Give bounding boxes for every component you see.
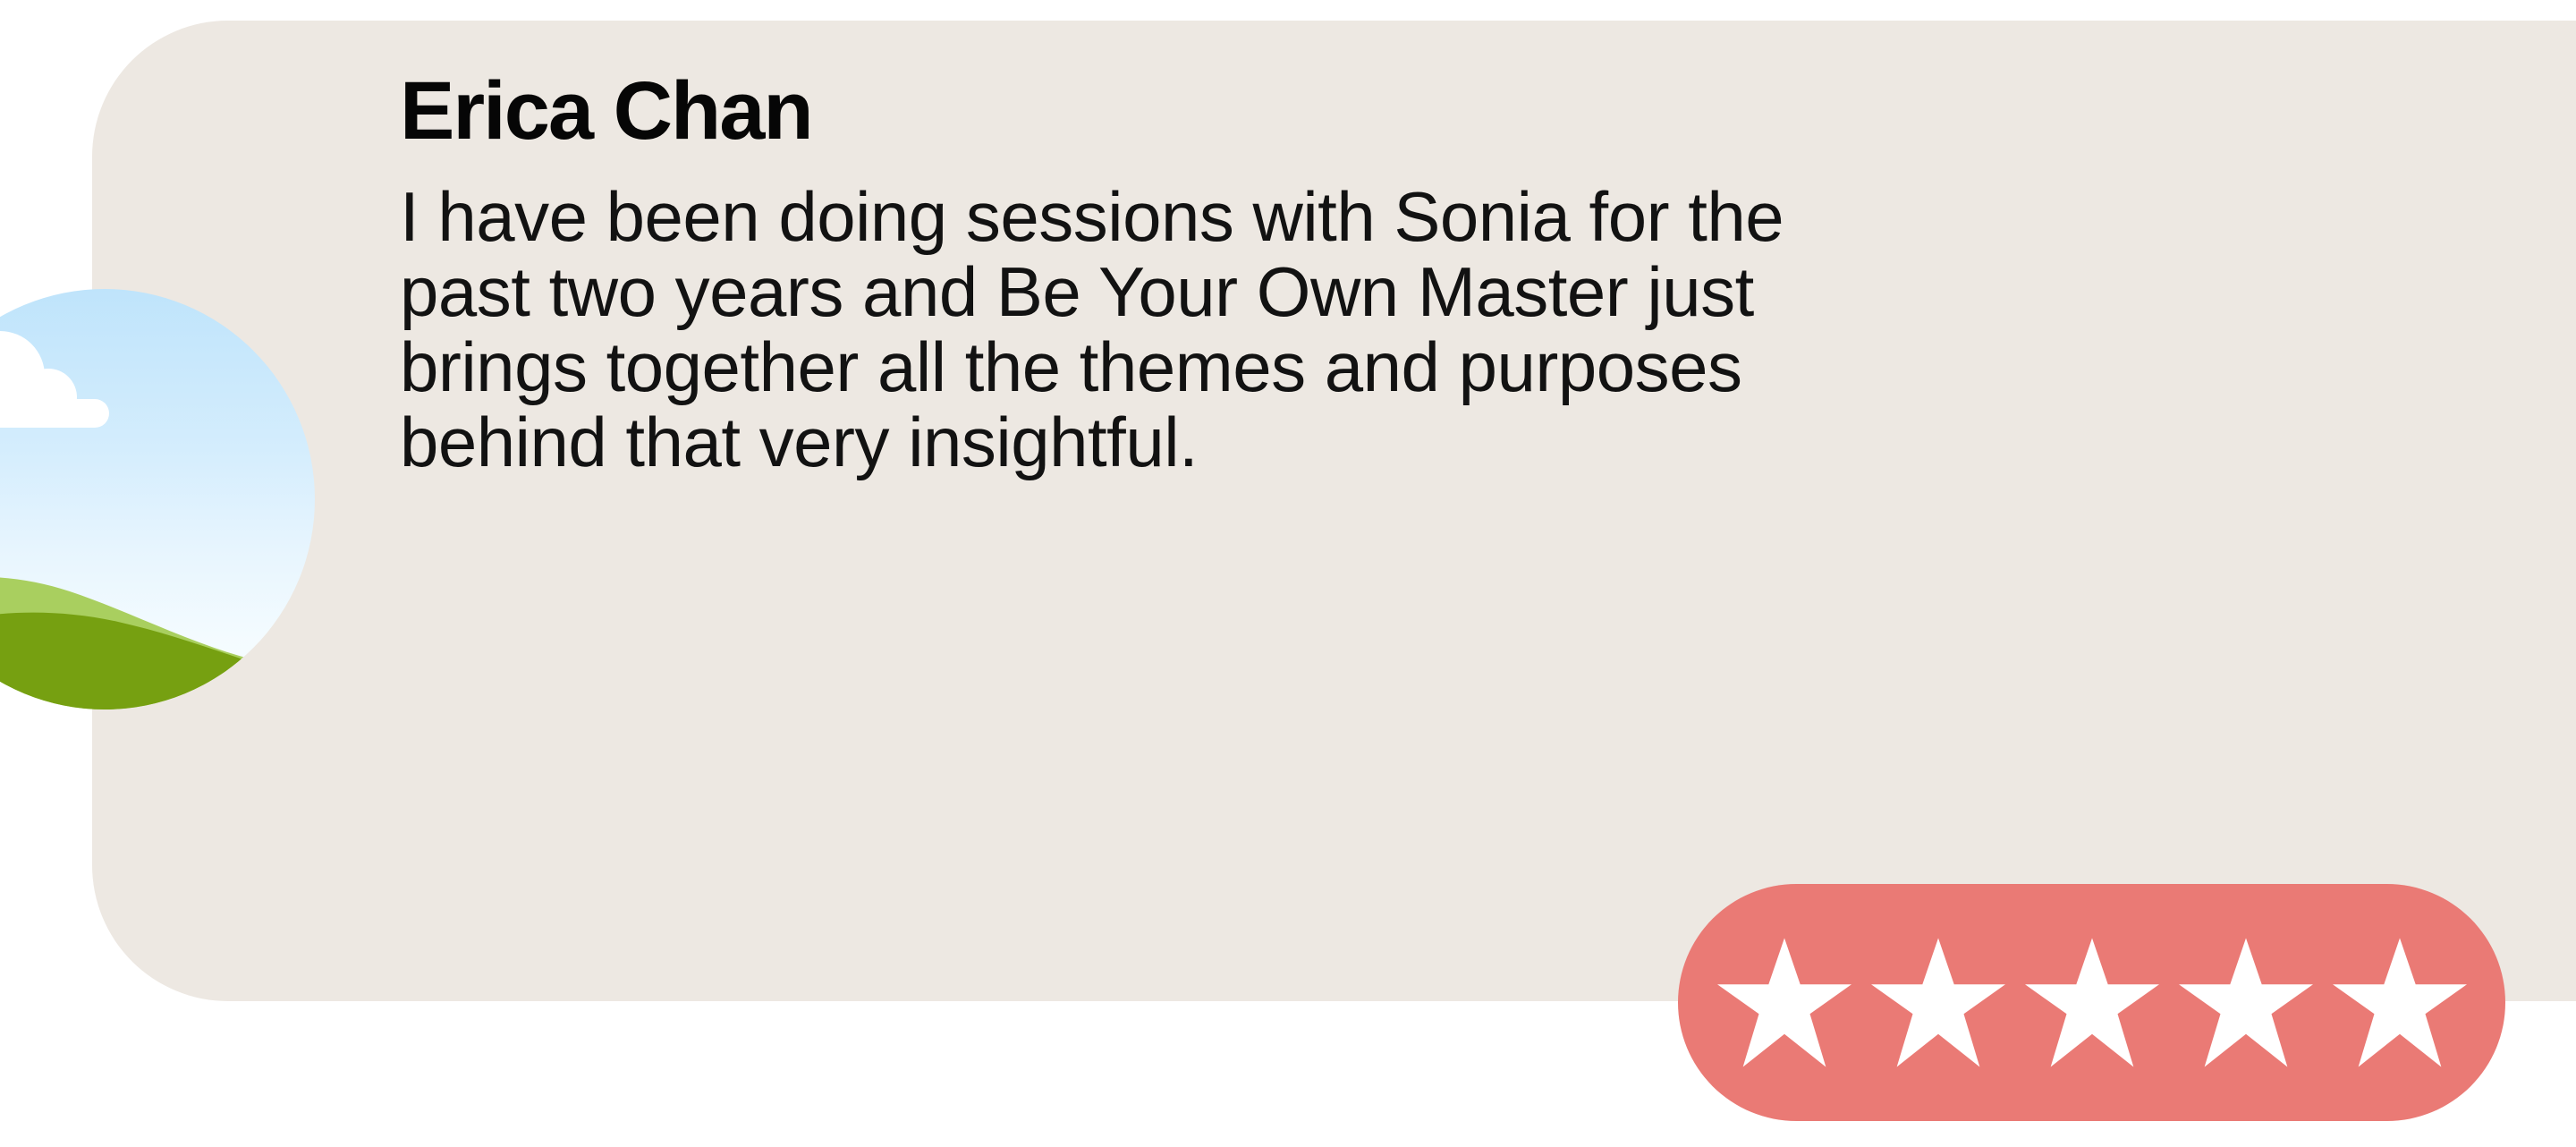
star-icon — [1717, 938, 1851, 1067]
star-icon — [2333, 938, 2467, 1067]
rating-badge[interactable] — [1678, 884, 2505, 1121]
review-text-line: I have been doing sessions with Sonia fo… — [400, 179, 1518, 254]
reviewer-name: Erica Chan — [400, 70, 812, 152]
review-text-line: brings together all the themes and purpo… — [400, 329, 1518, 404]
avatar — [0, 289, 315, 709]
star-icon — [2179, 938, 2313, 1067]
review-text-line: past two years and Be Your Own Master ju… — [400, 254, 1518, 329]
star-icon — [1871, 938, 2005, 1067]
cloud-icon — [0, 289, 315, 709]
review-text-line: behind that very insightful. — [400, 404, 1518, 480]
testimonial-card — [92, 21, 2576, 1001]
review-text: I have been doing sessions with Sonia fo… — [400, 179, 1518, 480]
star-icon — [2025, 938, 2159, 1067]
